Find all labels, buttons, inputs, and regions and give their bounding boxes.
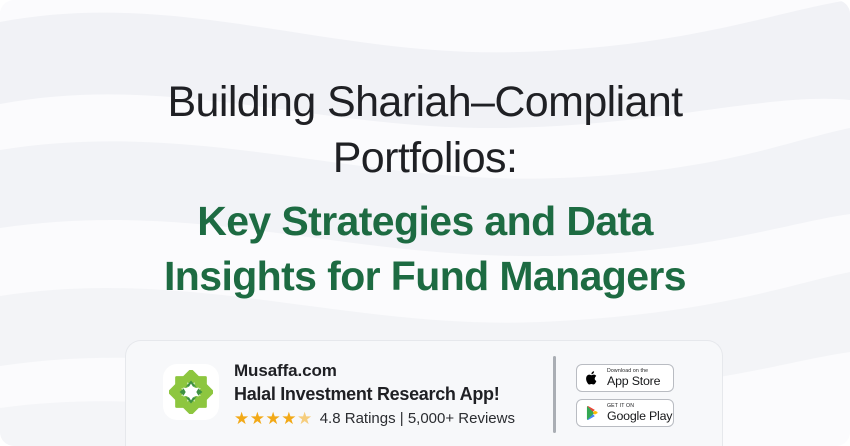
app-store-big-label: App Store <box>607 375 660 387</box>
rating-row: ★★★★★ 4.8 Ratings | 5,000+ Reviews <box>234 409 515 429</box>
app-logo-tile <box>163 364 219 420</box>
apple-logo-icon <box>584 370 601 386</box>
headline-line-2: Portfolios: <box>0 130 850 186</box>
google-play-badge[interactable]: GET IT ON Google Play <box>576 399 674 427</box>
rating-text: 4.8 Ratings | 5,000+ Reviews <box>320 409 515 429</box>
google-play-labels: GET IT ON Google Play <box>607 404 672 423</box>
star-rating-icons: ★★★★★ <box>234 409 313 429</box>
promo-banner: Building Shariah–Compliant Portfolios: K… <box>0 0 850 446</box>
app-store-badge[interactable]: Download on the App Store <box>576 364 674 392</box>
headline-line-4: Insights for Fund Managers <box>0 249 850 304</box>
app-store-labels: Download on the App Store <box>607 369 660 388</box>
stars-full-icon: ★★★★ <box>234 409 297 428</box>
google-play-big-label: Google Play <box>607 410 672 422</box>
app-text-block: Musaffa.com Halal Investment Research Ap… <box>234 359 515 429</box>
store-badges-group: Download on the App Store GET IT ON Goog… <box>576 364 674 427</box>
card-divider <box>553 356 556 433</box>
star-partial-icon: ★ <box>297 409 313 428</box>
app-tagline: Halal Investment Research App! <box>234 382 515 407</box>
musaffa-star-logo-icon <box>169 370 213 414</box>
headline-line-1: Building Shariah–Compliant <box>0 74 850 130</box>
google-play-logo-icon <box>584 405 601 421</box>
app-name: Musaffa.com <box>234 359 515 382</box>
headline-line-3: Key Strategies and Data <box>0 186 850 249</box>
headline-group: Building Shariah–Compliant Portfolios: K… <box>0 74 850 304</box>
